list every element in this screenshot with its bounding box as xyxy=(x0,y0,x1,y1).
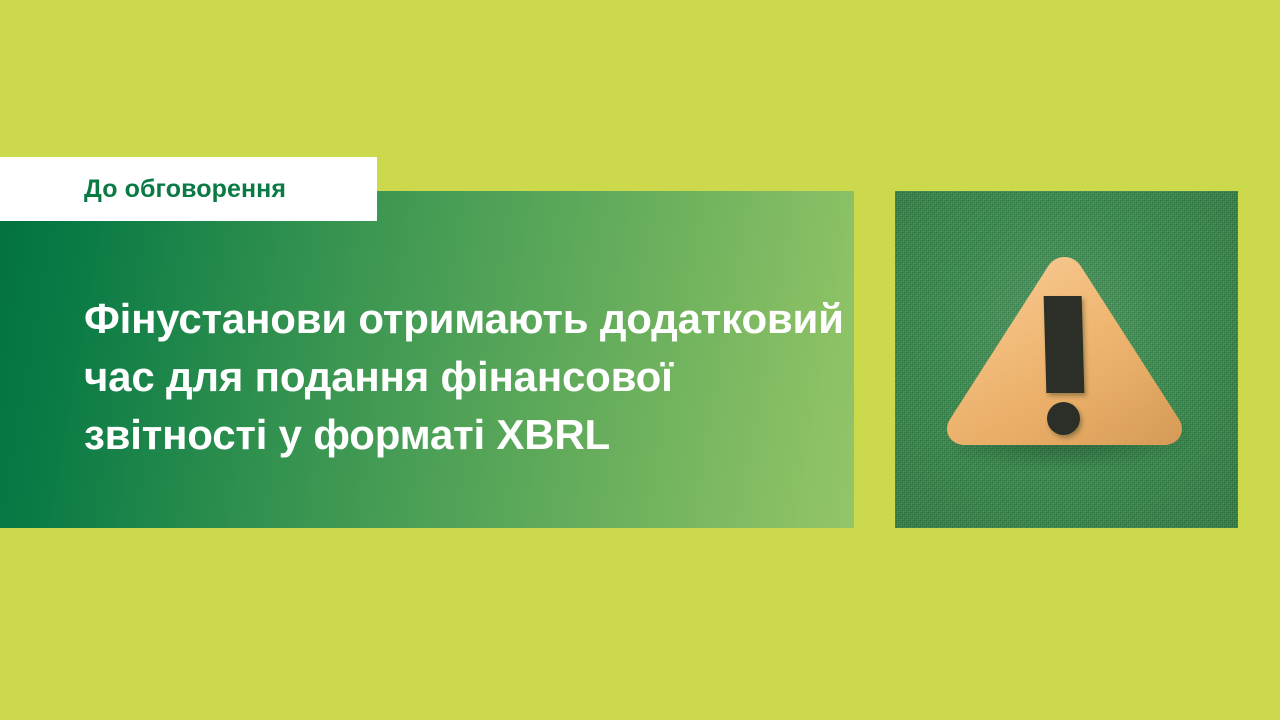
kicker-badge: До обговорення xyxy=(0,157,377,221)
illustration-tile xyxy=(895,191,1238,528)
exclamation-dot-icon xyxy=(1047,402,1080,435)
page-title: Фінустанови отримають додатковий час для… xyxy=(84,290,844,464)
kicker-label: До обговорення xyxy=(84,177,286,202)
exclamation-bar-icon xyxy=(1044,296,1085,393)
news-banner: До обговорення Фінустанови отримають дод… xyxy=(0,0,1280,720)
